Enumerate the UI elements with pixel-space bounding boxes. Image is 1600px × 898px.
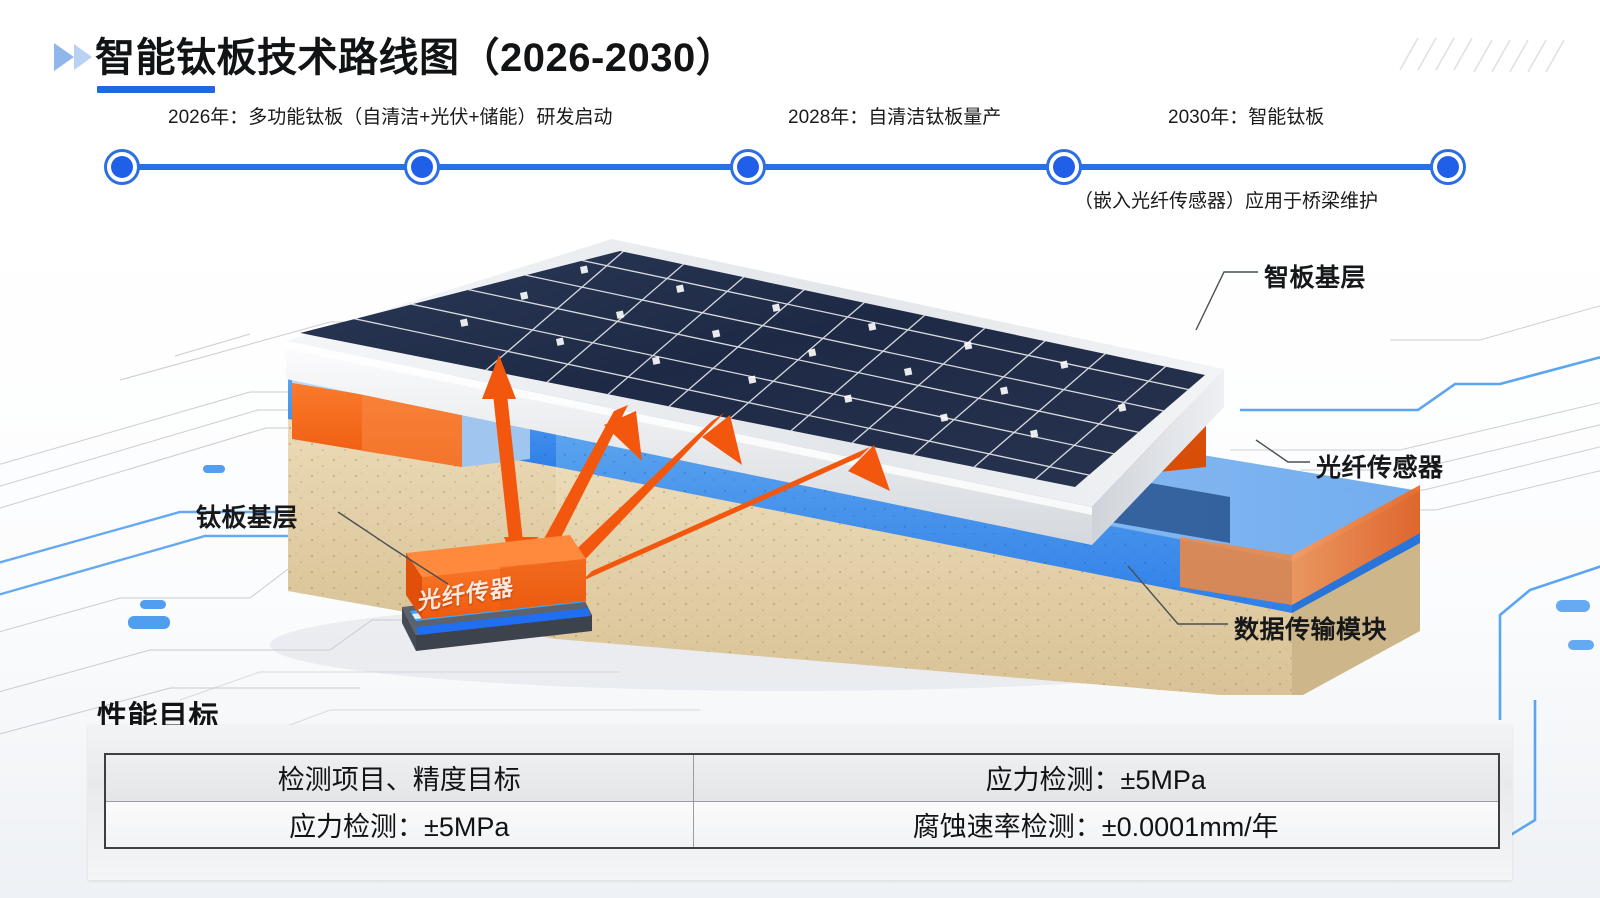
timeline-node-1[interactable] (104, 149, 140, 185)
performance-targets-table: 检测项目、精度目标 应力检测：±5MPa 应力检测：±5MPa 腐蚀速率检测：±… (104, 753, 1500, 849)
table-cell-body-right: 腐蚀速率检测：±0.0001mm/年 (693, 801, 1499, 848)
table-cell-body-left: 应力检测：±5MPa (105, 801, 693, 848)
table-cell-header-right: 应力检测：±5MPa (693, 754, 1499, 801)
callout-fiber-optic-sensor: 光纤传感器 (1316, 448, 1444, 484)
timeline-label-2030: 2030年：智能钛板 (1168, 102, 1324, 129)
table-cell-header-left: 检测项目、精度目标 (105, 754, 693, 801)
page-header: 智能钛板技术路线图（2026-2030） (0, 0, 1600, 104)
table-row: 应力检测：±5MPa 腐蚀速率检测：±0.0001mm/年 (105, 801, 1499, 848)
roadmap-timeline: 2026年：多功能钛板（自清洁+光伏+储能）研发启动 2028年：自清洁钛板量产… (0, 104, 1600, 224)
timeline-label-2028: 2028年：自清洁钛板量产 (788, 102, 1001, 129)
timeline-label-2026: 2026年：多功能钛板（自清洁+光伏+储能）研发启动 (168, 102, 612, 129)
page-title: 智能钛板技术路线图（2026-2030） (95, 25, 736, 83)
timeline-label-2030-sub: （嵌入光纤传感器）应用于桥梁维护 (1074, 186, 1378, 213)
callout-titanium-board-base-layer: 钛板基层 (196, 498, 298, 534)
title-underline (97, 86, 215, 93)
callout-data-transmission-module: 数据传输模块 (1234, 610, 1387, 646)
double-chevron-right-icon (52, 40, 96, 74)
timeline-node-4[interactable] (1046, 149, 1082, 185)
callout-smart-board-base-layer: 智板基层 (1264, 258, 1366, 294)
timeline-node-5[interactable] (1430, 149, 1466, 185)
timeline-node-2[interactable] (404, 149, 440, 185)
timeline-axis (122, 164, 1452, 170)
timeline-node-3[interactable] (730, 149, 766, 185)
table-row: 检测项目、精度目标 应力检测：±5MPa (105, 754, 1499, 801)
